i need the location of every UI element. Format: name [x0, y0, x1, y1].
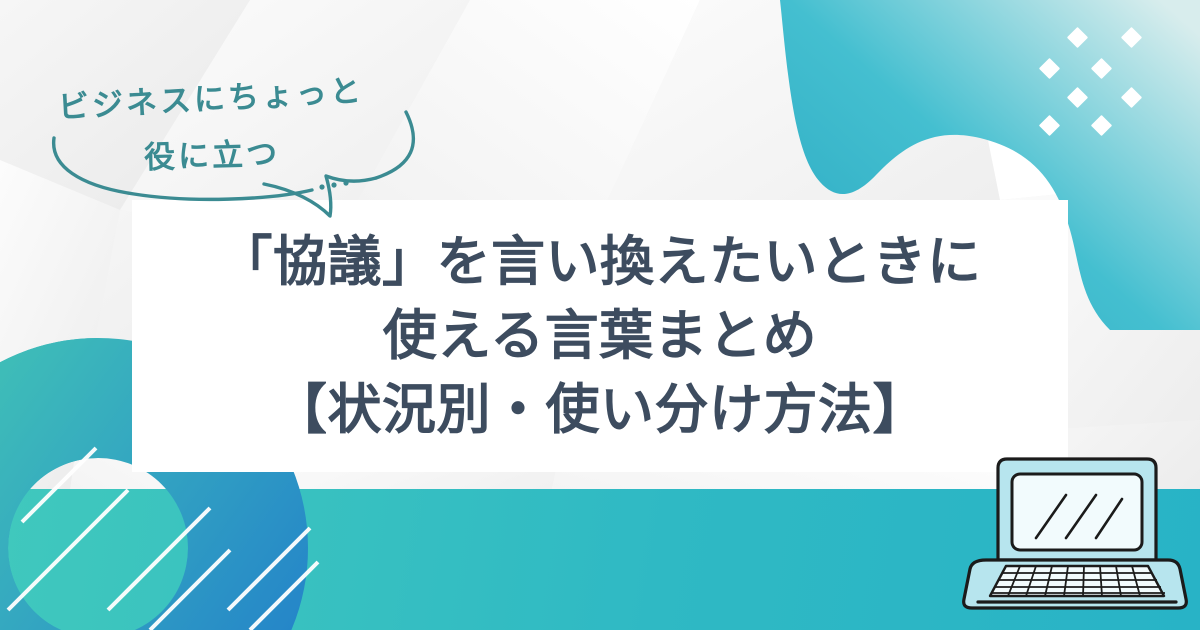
diamond-icon [1091, 115, 1112, 136]
eyebrow-group: ビジネスにちょっと 役に立つ [40, 70, 460, 250]
diamond-icon [1039, 115, 1060, 136]
diamond-icon [1067, 87, 1088, 108]
diamond-icon [1121, 87, 1142, 108]
eyecatch-canvas: 「協議」を言い換えたいときに 使える言葉まとめ 【状況別・使い分け方法】 ビジネ… [0, 0, 1200, 630]
diamond-icon [1067, 27, 1088, 48]
diamond-icon [1121, 27, 1142, 48]
title-line-2: 使える言葉まとめ [383, 300, 817, 372]
laptop-screen [1012, 474, 1142, 550]
eyebrow-line-2: 役に立つ [143, 128, 280, 177]
diamond-icon [1091, 58, 1112, 79]
decor-diamond-grid [1032, 28, 1152, 148]
diamond-icon [1039, 58, 1060, 79]
swoosh-dots [319, 180, 348, 189]
title-line-3: 【状況別・使い分け方法】 [273, 374, 927, 446]
laptop-icon [962, 452, 1192, 624]
